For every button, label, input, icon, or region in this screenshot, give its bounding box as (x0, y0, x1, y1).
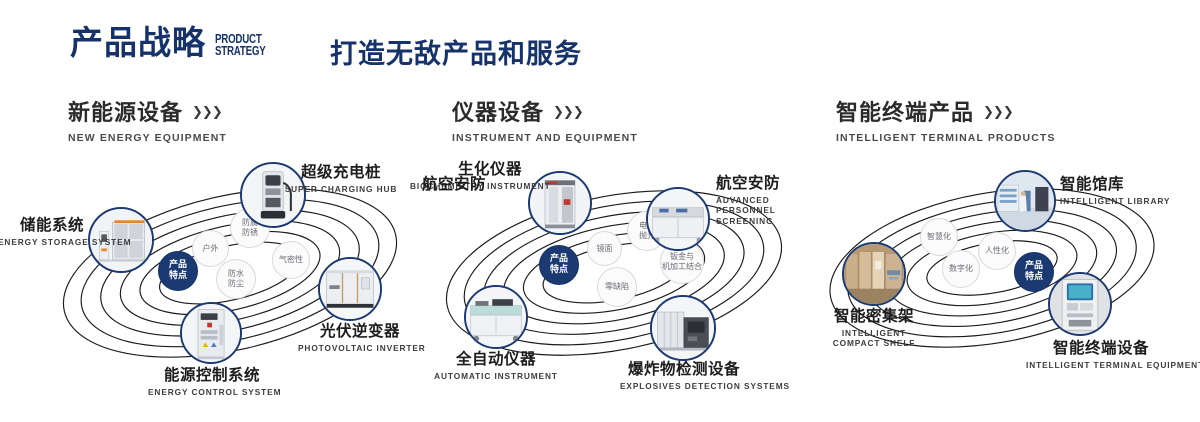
label-intelligent-library: 智能馆库 INTELLIGENT LIBRARY (1060, 176, 1200, 206)
compact-shelving-icon (844, 244, 904, 304)
feature-bubble-line2: 防尘 (228, 279, 244, 289)
feature-bubble-line1: 气密性 (279, 255, 303, 265)
node-label-en: SUPER CHARGING HUB (276, 184, 406, 194)
automatic-analyzer-icon (466, 287, 526, 347)
section-heading-new-energy: 新能源设备 ❯❯❯ NEW ENERGY EQUIPMENT (68, 95, 227, 144)
node-label-cn: 航空安防 (716, 175, 826, 193)
node-label-en: INTELLIGENT COMPACT SHELF (820, 328, 928, 349)
feature-bubble-line1: 智慧化 (927, 232, 951, 242)
product-strategy-infographic: 产品战略 PRODUCT STRATEGY 打造无敌产品和服务 新能源设备 ❯❯… (0, 0, 1200, 422)
page-title-en-line2: STRATEGY (215, 46, 265, 58)
page-title-cn: 产品战略 (70, 26, 206, 59)
node-label-en: EXPLOSIVES DETECTION SYSTEMS (620, 381, 748, 391)
node-label-en: INTELLIGENT LIBRARY (1060, 196, 1200, 206)
section-title-cn: 新能源设备 (68, 95, 183, 127)
page-subtitle: 打造无敌产品和服务 (330, 32, 582, 71)
feature-bubble-line1: 零缺陷 (605, 282, 629, 292)
node-label-en: ENERGY STORAGE SYSTEM (0, 237, 84, 247)
feature-bubble-smart: 智慧化 (920, 218, 958, 256)
node-label-cn: 超级充电桩 (276, 164, 406, 182)
feature-bubble-line2: 机加工结合 (662, 262, 702, 272)
feature-bubble-line1: 户外 (203, 244, 219, 254)
library-room-icon (996, 172, 1054, 230)
pv-inverter-cabinet-icon (320, 259, 380, 319)
node-energy-control-system[interactable] (180, 302, 242, 364)
label-intelligent-compact-shelf: 智能密集架 INTELLIGENT COMPACT SHELF (804, 308, 944, 349)
node-label-cn: 全自动仪器 (434, 351, 558, 369)
node-label-cn: 储能系统 (0, 217, 84, 235)
core-bubble-line1: 产品 (1025, 261, 1043, 272)
label-advanced-personnel-screening: 航空安防 ADVANCED PERSONNEL SCREENING (716, 175, 826, 226)
control-cabinet-icon (182, 304, 240, 362)
node-automatic-instrument[interactable] (464, 285, 528, 349)
feature-bubble-mirror-finish: 镜面 (587, 231, 622, 266)
node-label-en: ENERGY CONTROL SYSTEM (148, 387, 276, 397)
page-title: 产品战略 PRODUCT STRATEGY (70, 26, 280, 59)
section-heading-instrument: 仪器设备 ❯❯❯ INSTRUMENT AND EQUIPMENT (452, 95, 638, 144)
label-photovoltaic-inverter: 光伏逆变器 PHOTOVOLTAIC INVERTER (298, 323, 422, 353)
feature-bubble-humanized: 人性化 (978, 232, 1016, 270)
label-aviation-security-prefix: 航空安防 (388, 176, 486, 194)
section-title-cn: 智能终端产品 (836, 95, 974, 127)
core-bubble-line2: 特点 (550, 265, 568, 276)
chevron-right-icon: ❯❯❯ (192, 105, 222, 118)
feature-bubble-line1: 镜面 (597, 244, 613, 254)
label-energy-control-system: 能源控制系统 ENERGY CONTROL SYSTEM (148, 367, 276, 397)
node-label-cn: 智能馆库 (1060, 176, 1200, 194)
node-label-cn: 爆炸物检测设备 (620, 361, 748, 379)
feature-bubble-outdoor: 户外 (192, 230, 229, 267)
section-title-cn: 仪器设备 (452, 95, 544, 127)
node-label-cn: 能源控制系统 (148, 367, 276, 385)
cluster-new-energy: 产品 特点 户外 防腐 防锈 防水 防尘 气密性 (40, 155, 420, 385)
label-super-charging-hub: 超级充电桩 SUPER CHARGING HUB (276, 164, 406, 194)
section-title-en: NEW ENERGY EQUIPMENT (68, 132, 227, 144)
cluster-intelligent-terminal: 产品 特点 智慧化 人性化 数字化 (812, 160, 1192, 390)
feature-bubble-waterproof: 防水 防尘 (216, 259, 256, 299)
node-label-cn: 航空安防 (388, 176, 486, 194)
chevron-right-icon: ❯❯❯ (553, 105, 583, 118)
section-title-en: INTELLIGENT TERMINAL PRODUCTS (836, 132, 1056, 144)
core-bubble-line1: 产品 (169, 260, 187, 271)
node-label-en: INTELLIGENT TERMINAL EQUIPMENT (1026, 360, 1176, 370)
node-label-en: PHOTOVOLTAIC INVERTER (298, 343, 422, 353)
core-bubble-line2: 特点 (169, 271, 187, 282)
feature-bubble-line1: 数字化 (949, 264, 973, 274)
feature-bubble-zero-defect: 零缺陷 (597, 267, 637, 307)
core-bubble-line2: 特点 (1025, 272, 1043, 283)
feature-bubble-line1: 钣金与 (662, 252, 702, 262)
feature-bubble-line1: 防水 (228, 269, 244, 279)
feature-bubble-airtight: 气密性 (272, 241, 310, 279)
feature-bubble-digital: 数字化 (942, 250, 980, 288)
section-heading-intelligent-terminal: 智能终端产品 ❯❯❯ INTELLIGENT TERMINAL PRODUCTS (836, 95, 1056, 144)
core-bubble-line1: 产品 (550, 254, 568, 265)
chevron-right-icon: ❯❯❯ (983, 105, 1013, 118)
label-energy-storage-system: 储能系统 ENERGY STORAGE SYSTEM (0, 217, 84, 247)
node-label-en: AUTOMATIC INSTRUMENT (434, 371, 558, 381)
section-title-en: INSTRUMENT AND EQUIPMENT (452, 132, 638, 144)
node-label-cn: 智能密集架 (804, 308, 944, 326)
node-explosives-detection-systems[interactable] (650, 295, 716, 361)
node-label-cn: 光伏逆变器 (298, 323, 422, 341)
label-intelligent-terminal-equipment: 智能终端设备 INTELLIGENT TERMINAL EQUIPMENT (1026, 340, 1176, 370)
cluster-instrument: 产品 特点 镜面 电解 抛光 零缺陷 钣金与 机加工结合 (424, 155, 804, 385)
core-bubble-product-features: 产品 特点 (539, 245, 579, 285)
node-label-en: ADVANCED PERSONNEL SCREENING (716, 195, 812, 226)
node-photovoltaic-inverter[interactable] (318, 257, 382, 321)
node-label-cn: 智能终端设备 (1026, 340, 1176, 358)
core-bubble-product-features: 产品 特点 (158, 251, 198, 291)
feature-bubble-line2: 防锈 (242, 228, 258, 238)
node-intelligent-library[interactable] (994, 170, 1056, 232)
screening-machine-icon (648, 189, 708, 249)
node-intelligent-compact-shelf[interactable] (842, 242, 906, 306)
node-advanced-personnel-screening[interactable] (646, 187, 710, 251)
page-title-en: PRODUCT STRATEGY (215, 34, 265, 58)
label-explosives-detection-systems: 爆炸物检测设备 EXPLOSIVES DETECTION SYSTEMS (620, 361, 748, 391)
label-automatic-instrument: 全自动仪器 AUTOMATIC INSTRUMENT (434, 351, 558, 381)
feature-bubble-line1: 人性化 (985, 246, 1009, 256)
core-bubble-product-features: 产品 特点 (1014, 252, 1054, 292)
node-intelligent-terminal-equipment[interactable] (1048, 272, 1112, 336)
self-service-kiosk-icon (1050, 274, 1110, 334)
detection-rack-icon (652, 297, 714, 359)
